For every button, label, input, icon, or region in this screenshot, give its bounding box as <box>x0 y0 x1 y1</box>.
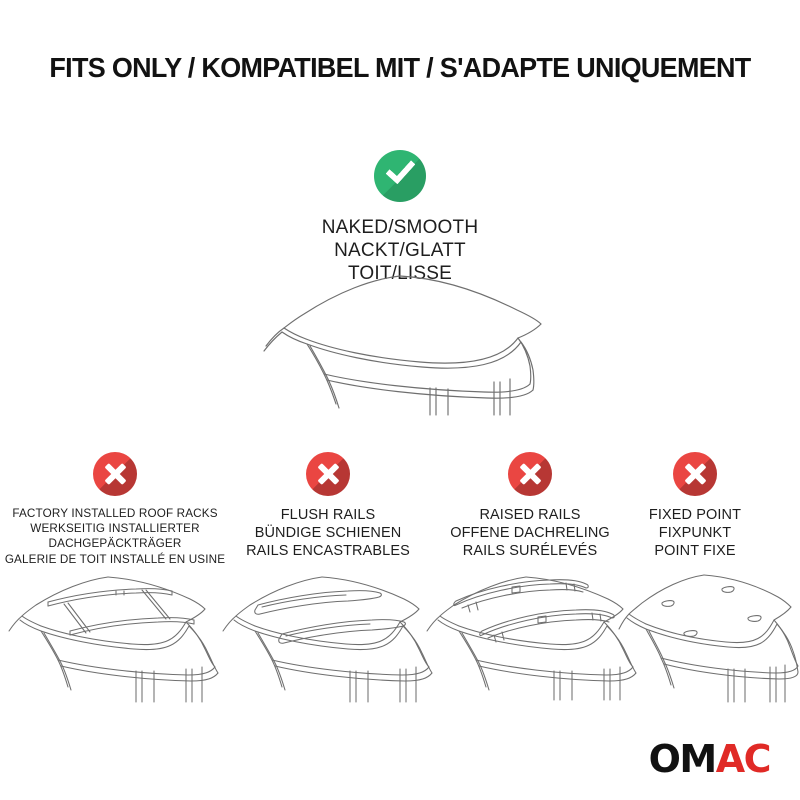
incompatible-item-factory-racks: FACTORY INSTALLED ROOF RACKS WERKSEITIG … <box>0 452 230 567</box>
car-roof-factory-racks-illustration <box>8 557 223 702</box>
item-label-en: FLUSH RAILS <box>224 506 432 524</box>
item-label-en: FACTORY INSTALLED ROOF RACKS <box>0 506 230 521</box>
check-circle-icon <box>374 150 426 202</box>
car-roof-naked-smooth-illustration <box>262 270 572 415</box>
item-labels: FLUSH RAILS BÜNDIGE SCHIENEN RAILS ENCAS… <box>224 506 432 560</box>
incompatible-item-flush-rails: FLUSH RAILS BÜNDIGE SCHIENEN RAILS ENCAS… <box>224 452 432 560</box>
page-title: FITS ONLY / KOMPATIBEL MIT / S'ADAPTE UN… <box>8 52 792 84</box>
item-label-en: RAISED RAILS <box>428 506 632 524</box>
item-label-de-1: WERKSEITIG INSTALLIERTER <box>0 521 230 536</box>
logo-text-red: AC <box>716 737 770 781</box>
item-labels: RAISED RAILS OFFENE DACHRELING RAILS SUR… <box>428 506 632 560</box>
incompatible-item-fixed-point: FIXED POINT FIXPUNKT POINT FIXE <box>620 452 770 560</box>
car-roof-fixed-point-illustration <box>618 557 800 702</box>
x-glyph <box>306 452 350 496</box>
x-circle-icon <box>93 452 137 496</box>
item-labels: FIXED POINT FIXPUNKT POINT FIXE <box>620 506 770 560</box>
x-circle-icon <box>306 452 350 496</box>
car-roof-flush-rails-illustration <box>222 557 437 702</box>
x-circle-icon <box>673 452 717 496</box>
item-label-en: FIXED POINT <box>620 506 770 524</box>
compatible-label-en: NAKED/SMOOTH <box>0 216 800 239</box>
compatible-section: NAKED/SMOOTH NACKT/GLATT TOIT/LISSE <box>0 150 800 286</box>
logo-text-dark: OM <box>649 737 716 781</box>
x-glyph <box>508 452 552 496</box>
item-label-de: OFFENE DACHRELING <box>428 524 632 542</box>
x-glyph <box>93 452 137 496</box>
incompatible-item-raised-rails: RAISED RAILS OFFENE DACHRELING RAILS SUR… <box>428 452 632 560</box>
incompatible-section: FACTORY INSTALLED ROOF RACKS WERKSEITIG … <box>0 452 800 702</box>
omac-logo: OMAC <box>649 740 770 778</box>
item-label-de-2: DACHGEPÄCKTRÄGER <box>0 536 230 551</box>
x-circle-icon <box>508 452 552 496</box>
item-label-de: FIXPUNKT <box>620 524 770 542</box>
compatible-label-de: NACKT/GLATT <box>0 239 800 262</box>
x-glyph <box>673 452 717 496</box>
car-roof-raised-rails-illustration <box>426 555 641 700</box>
item-label-de: BÜNDIGE SCHIENEN <box>224 524 432 542</box>
